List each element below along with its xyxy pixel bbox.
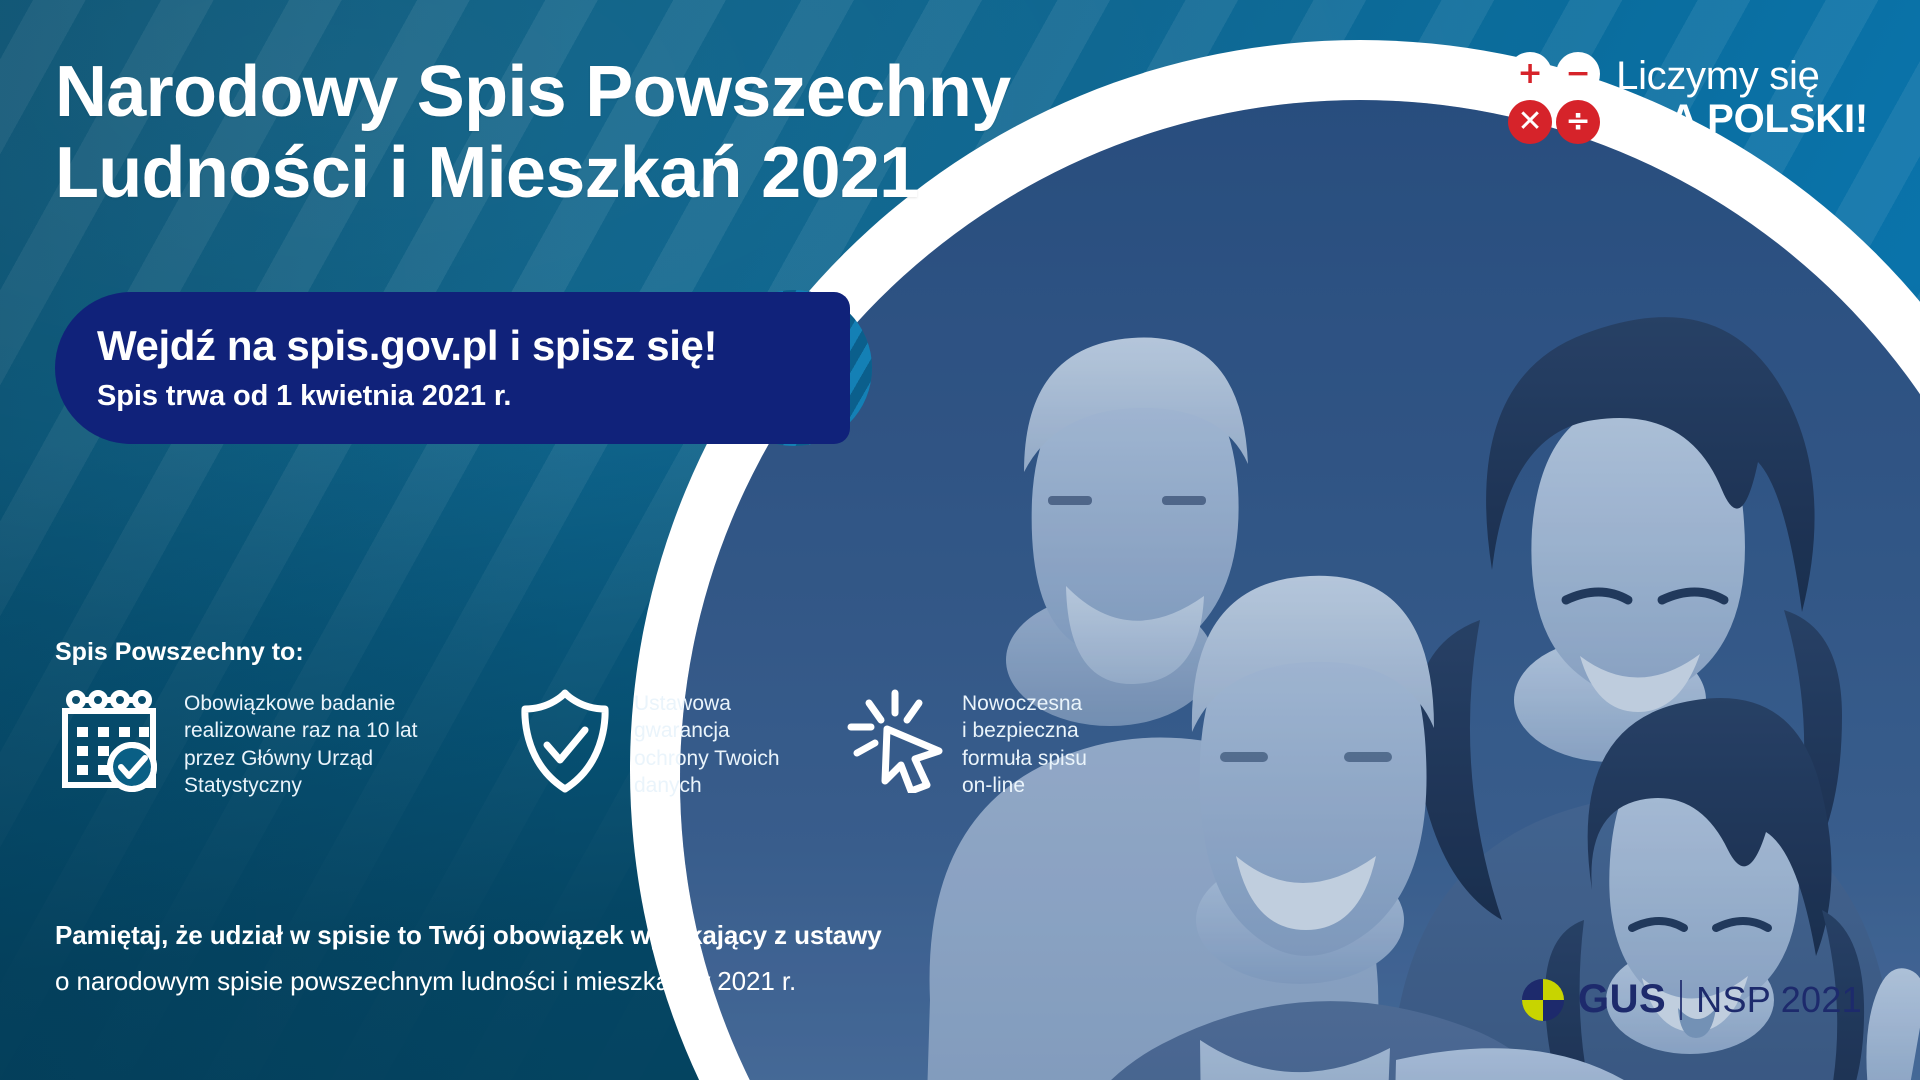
gus-mark-icon <box>1522 979 1564 1021</box>
minus-icon: − <box>1556 52 1600 96</box>
calendar-check-icon <box>50 686 170 796</box>
brand-slogan-line1: Liczymy się <box>1616 55 1868 98</box>
brand-slogan: Liczymy się DLA POLSKI! <box>1616 55 1868 141</box>
brand-lockup: + − ✕ ÷ Liczymy się DLA POLSKI! <box>1508 52 1868 144</box>
divide-icon: ÷ <box>1556 100 1600 144</box>
gus-divider <box>1680 980 1682 1020</box>
features-heading: Spis Powszechny to: <box>55 638 304 667</box>
math-symbols-logo: + − ✕ ÷ <box>1508 52 1600 144</box>
cta-subline: Spis trwa od 1 kwietnia 2021 r. <box>97 380 511 413</box>
plus-icon: + <box>1508 52 1552 96</box>
click-cursor-icon <box>840 686 950 796</box>
feature-item-obligatory: Obowiązkowe badanie realizowane raz na 1… <box>50 686 510 799</box>
feature-text: Ustawowa gwarancja ochrony Twoich danych <box>634 686 780 799</box>
gus-logo: GUS NSP 2021 <box>1522 977 1862 1022</box>
footer-note-line2: o narodowym spisie powszechnym ludności … <box>55 966 796 997</box>
feature-text: Nowoczesna i bezpieczna formuła spisu on… <box>962 686 1087 799</box>
features-row: Obowiązkowe badanie realizowane raz na 1… <box>50 686 1160 799</box>
cta-headline: Wejdź na spis.gov.pl i spisz się! <box>97 322 717 370</box>
brand-slogan-line2: DLA POLSKI! <box>1616 98 1868 141</box>
nsp-label: NSP 2021 <box>1696 979 1862 1021</box>
cta-banner[interactable]: Wejdź na spis.gov.pl i spisz się! Spis t… <box>55 292 850 444</box>
footer-note-line1: Pamiętaj, że udział w spisie to Twój obo… <box>55 920 882 951</box>
poster-root: Narodowy Spis Powszechny Ludności i Mies… <box>0 0 1920 1080</box>
gus-wordmark: GUS <box>1578 977 1666 1022</box>
feature-item-legal-guarantee: Ustawowa gwarancja ochrony Twoich danych <box>510 686 840 799</box>
cta-panel[interactable]: Wejdź na spis.gov.pl i spisz się! Spis t… <box>55 292 850 444</box>
feature-text: Obowiązkowe badanie realizowane raz na 1… <box>184 686 417 799</box>
multiply-icon: ✕ <box>1508 100 1552 144</box>
shield-check-icon <box>510 686 620 796</box>
feature-item-online-form: Nowoczesna i bezpieczna formuła spisu on… <box>840 686 1160 799</box>
page-title: Narodowy Spis Powszechny Ludności i Mies… <box>55 52 1010 213</box>
